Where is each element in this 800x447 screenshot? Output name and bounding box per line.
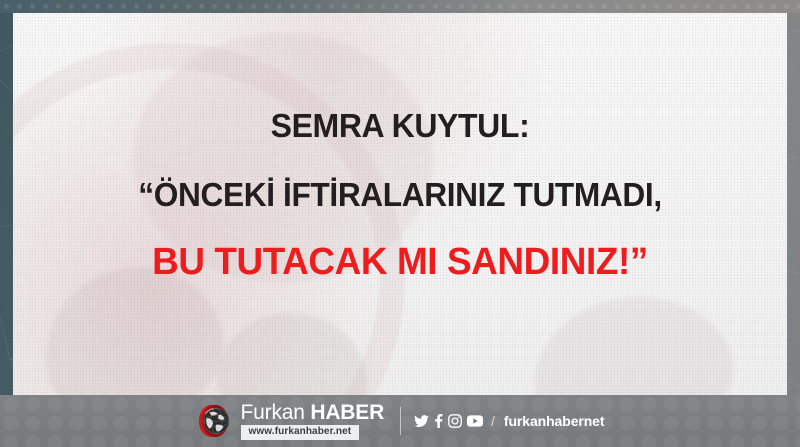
social-handle[interactable]: furkanhabernet [504,413,605,429]
social-separator: / [491,413,495,429]
top-edge-dot-pattern [0,0,800,13]
poster-top-edge [0,0,800,13]
footer-divider [400,407,401,435]
brand-name-light: Furkan [241,401,305,424]
content-card: SEMRA KUYTUL: “ÖNCEKİ İFTİRALARINIZ TUTM… [13,13,787,395]
brand-name-bold: HABER [310,401,384,424]
footer-bar: Furkan HABER www.furkanhaber.net [0,395,800,447]
twitter-icon[interactable] [414,415,429,428]
globe-icon [196,402,234,440]
headline-line-1: SEMRA KUYTUL: [25,105,776,147]
headline-line-2: “ÖNCEKİ İFTİRALARINIZ TUTMADI, [28,174,771,216]
instagram-icon[interactable] [448,414,462,428]
headline-block: SEMRA KUYTUL: “ÖNCEKİ İFTİRALARINIZ TUTM… [13,105,787,286]
brand-logo[interactable]: Furkan HABER www.furkanhaber.net [196,402,384,440]
brand-name: Furkan HABER [241,402,384,423]
brand-website-url[interactable]: www.furkanhaber.net [241,425,360,440]
facebook-icon[interactable] [434,414,443,428]
social-links: / furkanhabernet [414,413,604,429]
news-poster: SEMRA KUYTUL: “ÖNCEKİ İFTİRALARINIZ TUTM… [0,0,800,447]
youtube-icon[interactable] [467,415,483,427]
headline-line-3: BU TUTACAK MI SANDINIZ!” [25,238,776,286]
